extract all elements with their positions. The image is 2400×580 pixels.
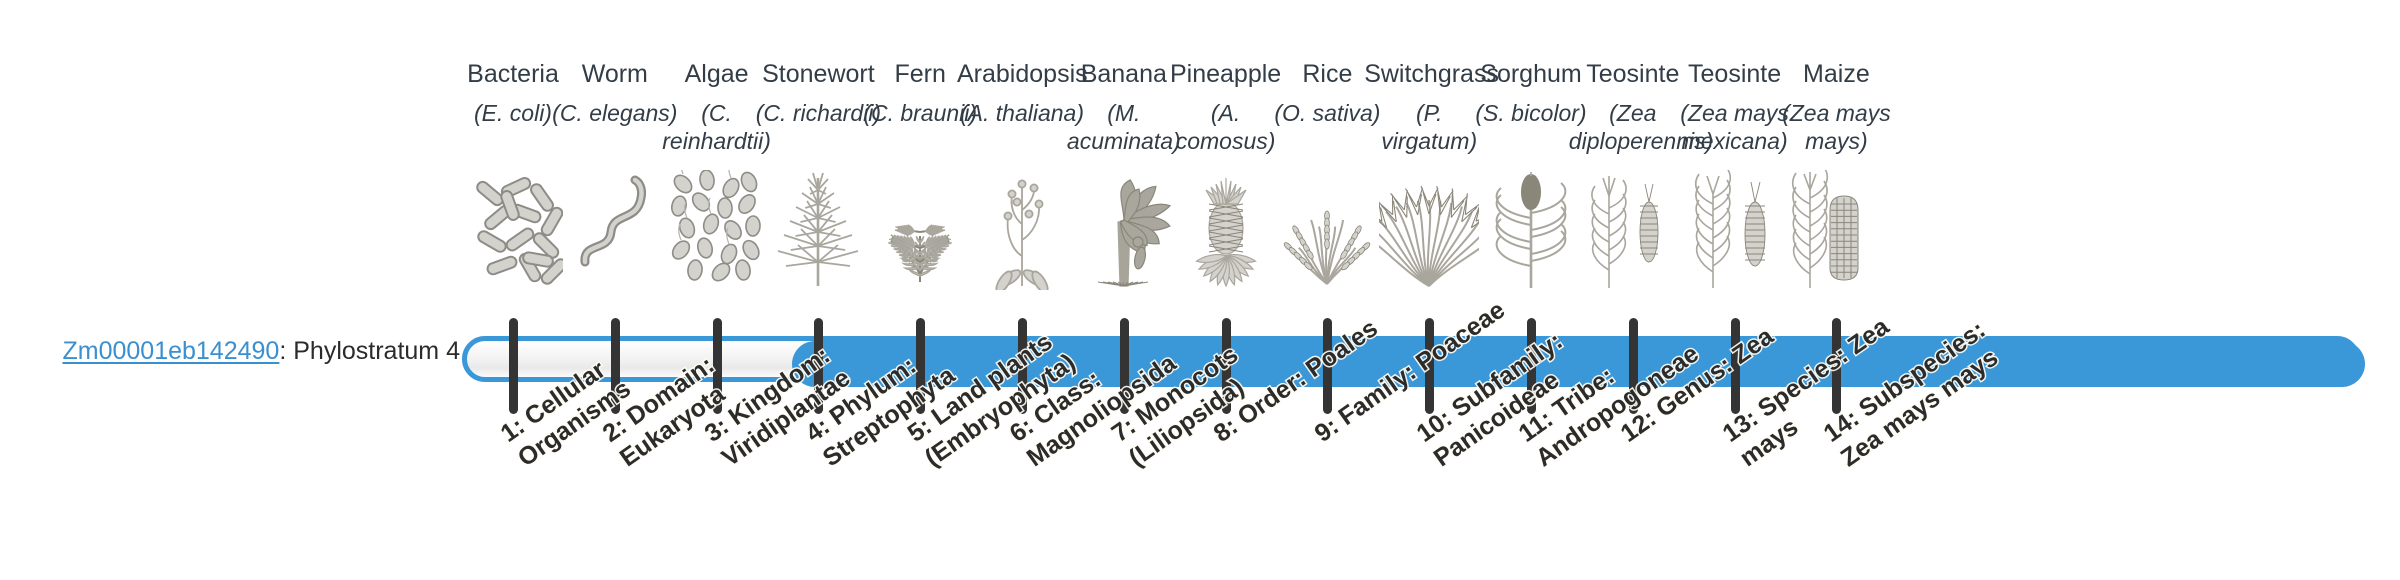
worm-icon [565,170,665,290]
sorghum-icon [1481,170,1581,290]
organism-column: Switchgrass(P. virgatum) [1378,0,1480,320]
organism-column: Teosinte(Zea mays mexicana) [1684,0,1786,320]
organism-column: Teosinte(Zea diploperennis) [1582,0,1684,320]
organism-column: Banana(M. acuminata) [1073,0,1175,320]
pineapple-icon [1176,170,1276,290]
organism-column: Sorghum(S. bicolor) [1480,0,1582,320]
stonewort-icon [768,170,868,290]
rice-icon [1277,170,1377,290]
organism-common-name: Maize [1771,60,1901,89]
organism-columns: Bacteria(E. coli) Worm(C. elegans) Algae… [462,0,2374,320]
organism-column: Rice(O. sativa) [1276,0,1378,320]
organism-column: Fern(C. braunii) [869,0,971,320]
algae-icon [667,170,767,290]
organism-column: Stonewort(C. richardii) [767,0,869,320]
organism-scientific-name: (Zea mays mays) [1772,99,1900,155]
organism-column: Arabidopsis(A. thaliana) [971,0,1073,320]
maize-icon [1786,170,1886,290]
teosinte-diplo-icon [1583,170,1683,290]
organism-column: Algae(C. reinhardtii) [666,0,768,320]
gene-id-link[interactable]: Zm00001eb142490 [62,337,279,365]
phylostratum-figure: Zm00001eb142490: Phylostratum 4 Bacteria… [0,0,2400,580]
rank-labels: 1: Cellular Organisms2: Domain: Eukaryot… [462,424,2374,580]
arabidopsis-icon [972,170,1072,290]
phylostratum-tick [509,318,518,414]
gene-label-separator: : [279,337,293,365]
organism-column: Worm(C. elegans) [564,0,666,320]
banana-icon [1074,170,1174,290]
organism-column: Maize(Zea mays mays) [1785,0,1887,320]
organism-column: Bacteria(E. coli) [462,0,564,320]
fern-icon [870,170,970,290]
teosinte-mexicana-icon [1685,170,1785,290]
organism-column: Pineapple(A. comosus) [1175,0,1277,320]
gene-phylostratum-label: Zm00001eb142490: Phylostratum 4 [40,336,460,366]
switchgrass-icon [1379,170,1479,290]
phylostratum-value: Phylostratum 4 [293,337,460,365]
bacteria-icon [463,170,563,290]
